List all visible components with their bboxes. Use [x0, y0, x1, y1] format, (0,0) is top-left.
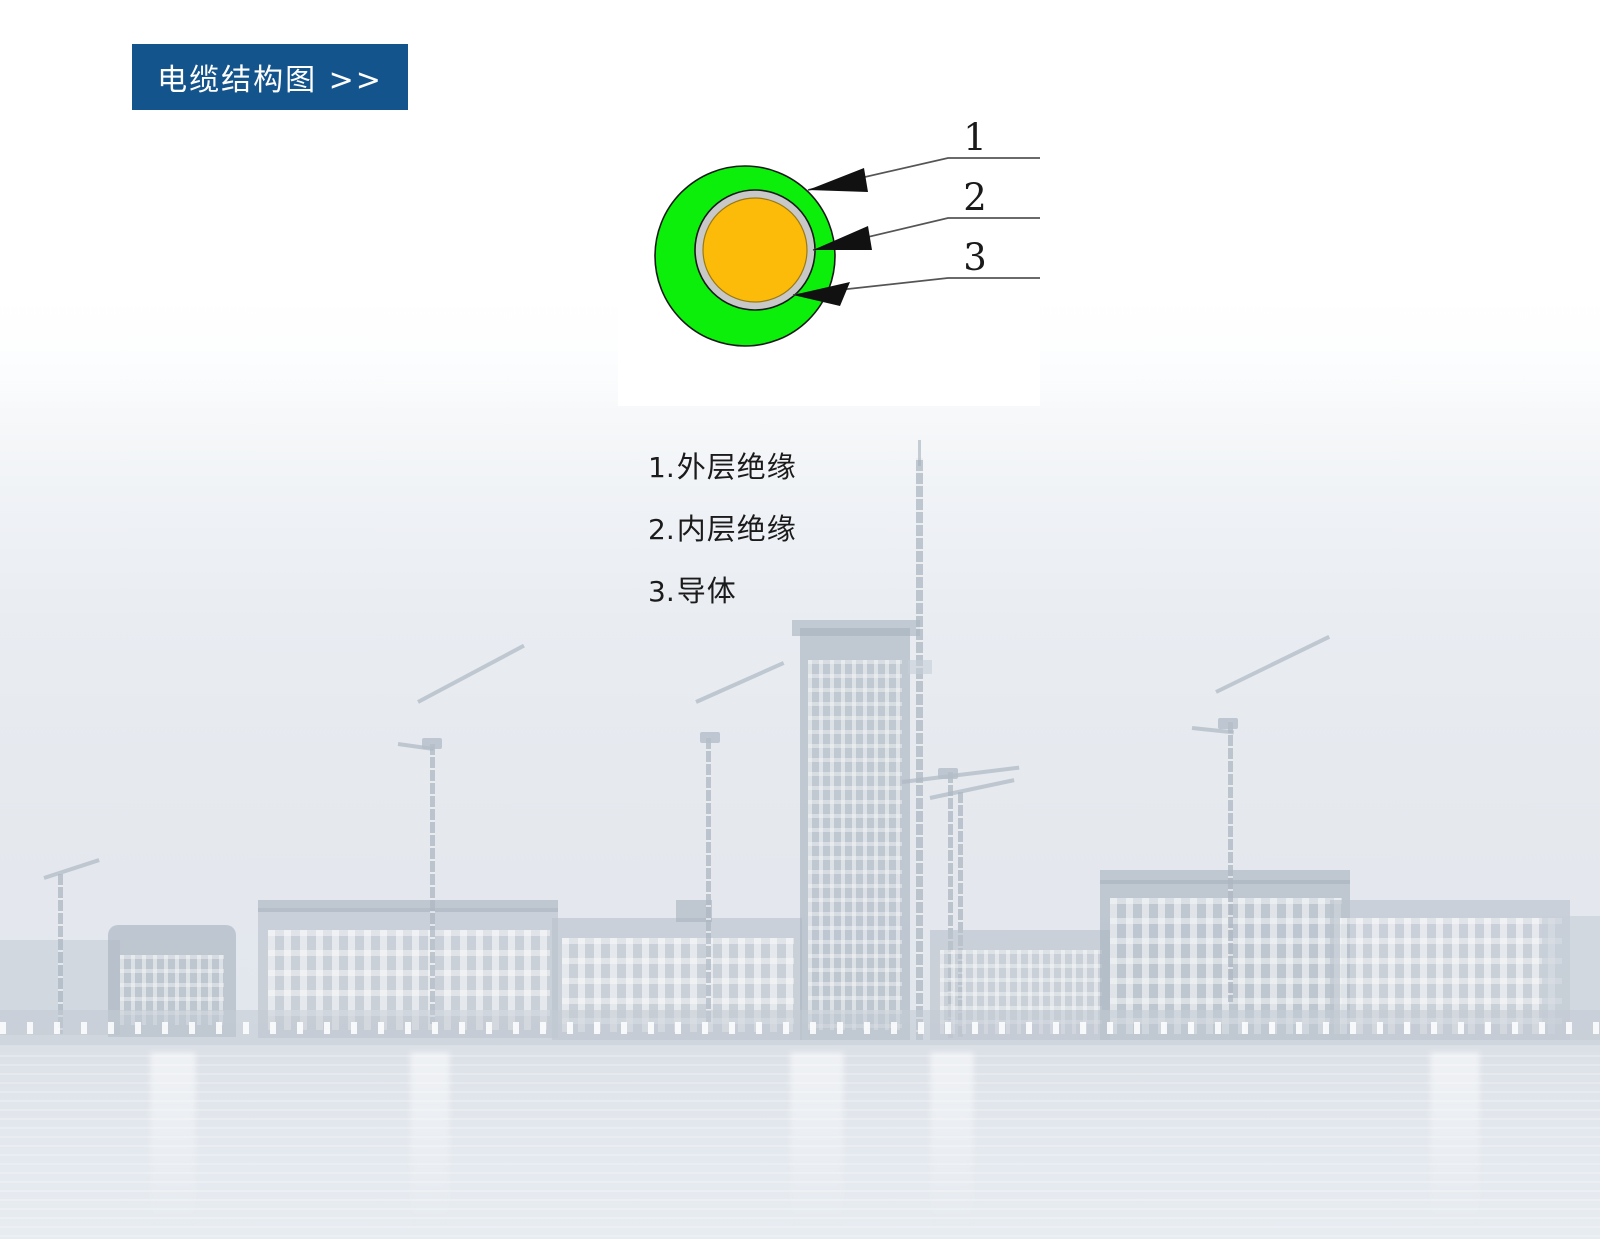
crane-mast-left-2 — [706, 736, 711, 1024]
building-far-left — [0, 940, 120, 1035]
crane-cab-left-2 — [700, 732, 720, 743]
crane-jib-center — [902, 766, 1020, 784]
crane-jib-right — [1215, 635, 1330, 694]
legend-item-3-label: 导体 — [677, 568, 737, 610]
building-right-mid-parapet — [1100, 870, 1350, 884]
crane-mast-center — [948, 770, 953, 1038]
callout-1-arrowhead — [808, 168, 868, 192]
quay-light-row — [0, 1022, 1600, 1034]
crane-mast-right — [1228, 720, 1233, 1002]
building-right-low — [930, 930, 1110, 1040]
window-grid-left-block — [268, 930, 550, 1030]
crane-mast-mid-right — [958, 790, 963, 1038]
callout-1-group: 1 — [808, 116, 1040, 192]
central-tower-spire — [916, 458, 923, 1040]
building-central-tower — [800, 628, 910, 1040]
legend-item-1: 1. 外层绝缘 — [648, 444, 797, 486]
building-right-mid — [1100, 880, 1350, 1040]
crane-cab-left — [422, 738, 442, 749]
river-water — [0, 1045, 1600, 1239]
window-grid-central-tower — [808, 660, 902, 1030]
water-reflection-c — [790, 1052, 844, 1230]
central-tower-spire-collar — [908, 660, 932, 674]
callout-2-number: 2 — [963, 176, 987, 219]
cable-diagram-panel: 1 2 3 — [618, 110, 1040, 406]
window-grid-center-left — [562, 938, 794, 1032]
crane-mast-left — [430, 742, 435, 1024]
quay-embankment — [0, 1010, 1600, 1046]
water-reflection-e — [1430, 1052, 1480, 1230]
building-left-tank — [108, 925, 236, 1037]
water-shimmer — [0, 1055, 1600, 1239]
water-reflection-b — [410, 1052, 450, 1230]
building-center-left-penthouse — [676, 900, 712, 922]
legend-item-1-label: 外层绝缘 — [677, 444, 797, 486]
crane-jib-mid-right — [930, 778, 1015, 800]
legend-item-2: 2. 内层绝缘 — [648, 506, 797, 548]
window-grid-right-mid — [1110, 898, 1342, 1034]
section-title-text: 电缆结构图 >> — [157, 55, 383, 99]
crane-cab-right — [1218, 718, 1238, 729]
central-tower-spire-tip — [918, 440, 921, 466]
building-left-block-parapet — [258, 900, 558, 912]
window-grid-right-low — [940, 950, 1102, 1034]
crane-jib-far-left — [43, 858, 99, 880]
section-title-banner[interactable]: 电缆结构图 >> — [132, 44, 408, 110]
window-grid-far-right — [1340, 918, 1562, 1034]
crane-mast-far-left — [58, 872, 63, 1034]
window-grid-left-tank — [120, 955, 224, 1025]
building-left-block — [258, 908, 558, 1038]
legend-item-2-number: 2. — [648, 513, 675, 546]
legend-item-3: 3. 导体 — [648, 568, 797, 610]
crane-counterjib-left — [398, 742, 434, 751]
building-far-right-edge — [1542, 916, 1600, 1040]
crane-jib-left-2 — [695, 661, 784, 704]
conductor-circle — [703, 198, 807, 302]
legend-item-3-number: 3. — [648, 575, 675, 608]
legend-item-2-label: 内层绝缘 — [677, 506, 797, 548]
cable-cross-section-svg: 1 2 3 — [618, 110, 1040, 406]
legend-item-1-number: 1. — [648, 451, 675, 484]
crane-counterjib-right — [1192, 726, 1234, 734]
cable-layer-legend: 1. 外层绝缘 2. 内层绝缘 3. 导体 — [648, 444, 797, 630]
page-root: 电缆结构图 >> 1 2 — [0, 0, 1600, 1239]
callout-1-number: 1 — [963, 116, 987, 159]
building-center-left — [552, 918, 802, 1040]
crane-jib-left — [417, 644, 525, 704]
building-far-right — [1330, 900, 1570, 1040]
water-reflection-a — [150, 1052, 196, 1230]
water-reflection-d — [930, 1052, 974, 1230]
callout-3-number: 3 — [963, 236, 987, 279]
building-central-tower-cap — [792, 620, 920, 636]
crane-cab-center — [938, 768, 958, 779]
